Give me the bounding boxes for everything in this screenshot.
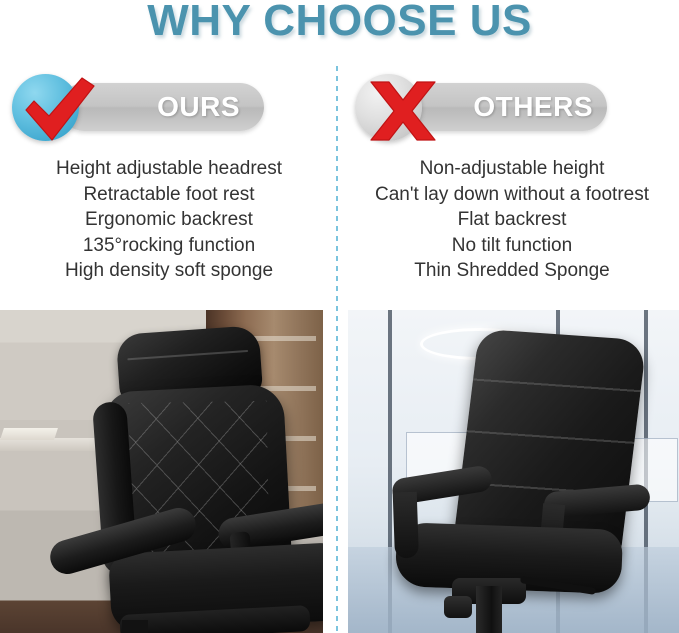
list-item: Ergonomic backrest bbox=[4, 207, 334, 233]
ours-badge: OURS bbox=[4, 70, 334, 144]
others-column: OTHERS Non-adjustable height Can't lay d… bbox=[347, 70, 677, 300]
paper-stack bbox=[0, 428, 58, 440]
list-item: Can't lay down without a footrest bbox=[347, 182, 677, 208]
others-product-photo bbox=[348, 310, 679, 633]
cross-icon bbox=[347, 70, 457, 150]
chair-gas-cylinder bbox=[476, 586, 502, 633]
chair-cylinder bbox=[122, 620, 148, 633]
ours-product-photo bbox=[0, 310, 323, 633]
header: WHY CHOOSE US bbox=[0, 0, 679, 52]
ours-feature-list: Height adjustable headrest Retractable f… bbox=[4, 156, 334, 284]
list-item: Thin Shredded Sponge bbox=[347, 258, 677, 284]
list-item: No tilt function bbox=[347, 233, 677, 259]
list-item: Non-adjustable height bbox=[347, 156, 677, 182]
list-item: Flat backrest bbox=[347, 207, 677, 233]
list-item: High density soft sponge bbox=[4, 258, 334, 284]
others-badge-label: OTHERS bbox=[473, 93, 593, 121]
column-divider bbox=[336, 66, 338, 633]
list-item: Height adjustable headrest bbox=[4, 156, 334, 182]
page-title: WHY CHOOSE US bbox=[147, 0, 532, 43]
ours-column: OURS Height adjustable headrest Retracta… bbox=[4, 70, 334, 300]
ours-badge-label: OURS bbox=[157, 93, 240, 121]
others-feature-list: Non-adjustable height Can't lay down wit… bbox=[347, 156, 677, 284]
chair-tension-knob bbox=[444, 596, 472, 618]
others-badge: OTHERS bbox=[347, 70, 677, 144]
list-item: Retractable foot rest bbox=[4, 182, 334, 208]
list-item: 135°rocking function bbox=[4, 233, 334, 259]
check-icon bbox=[4, 70, 114, 150]
